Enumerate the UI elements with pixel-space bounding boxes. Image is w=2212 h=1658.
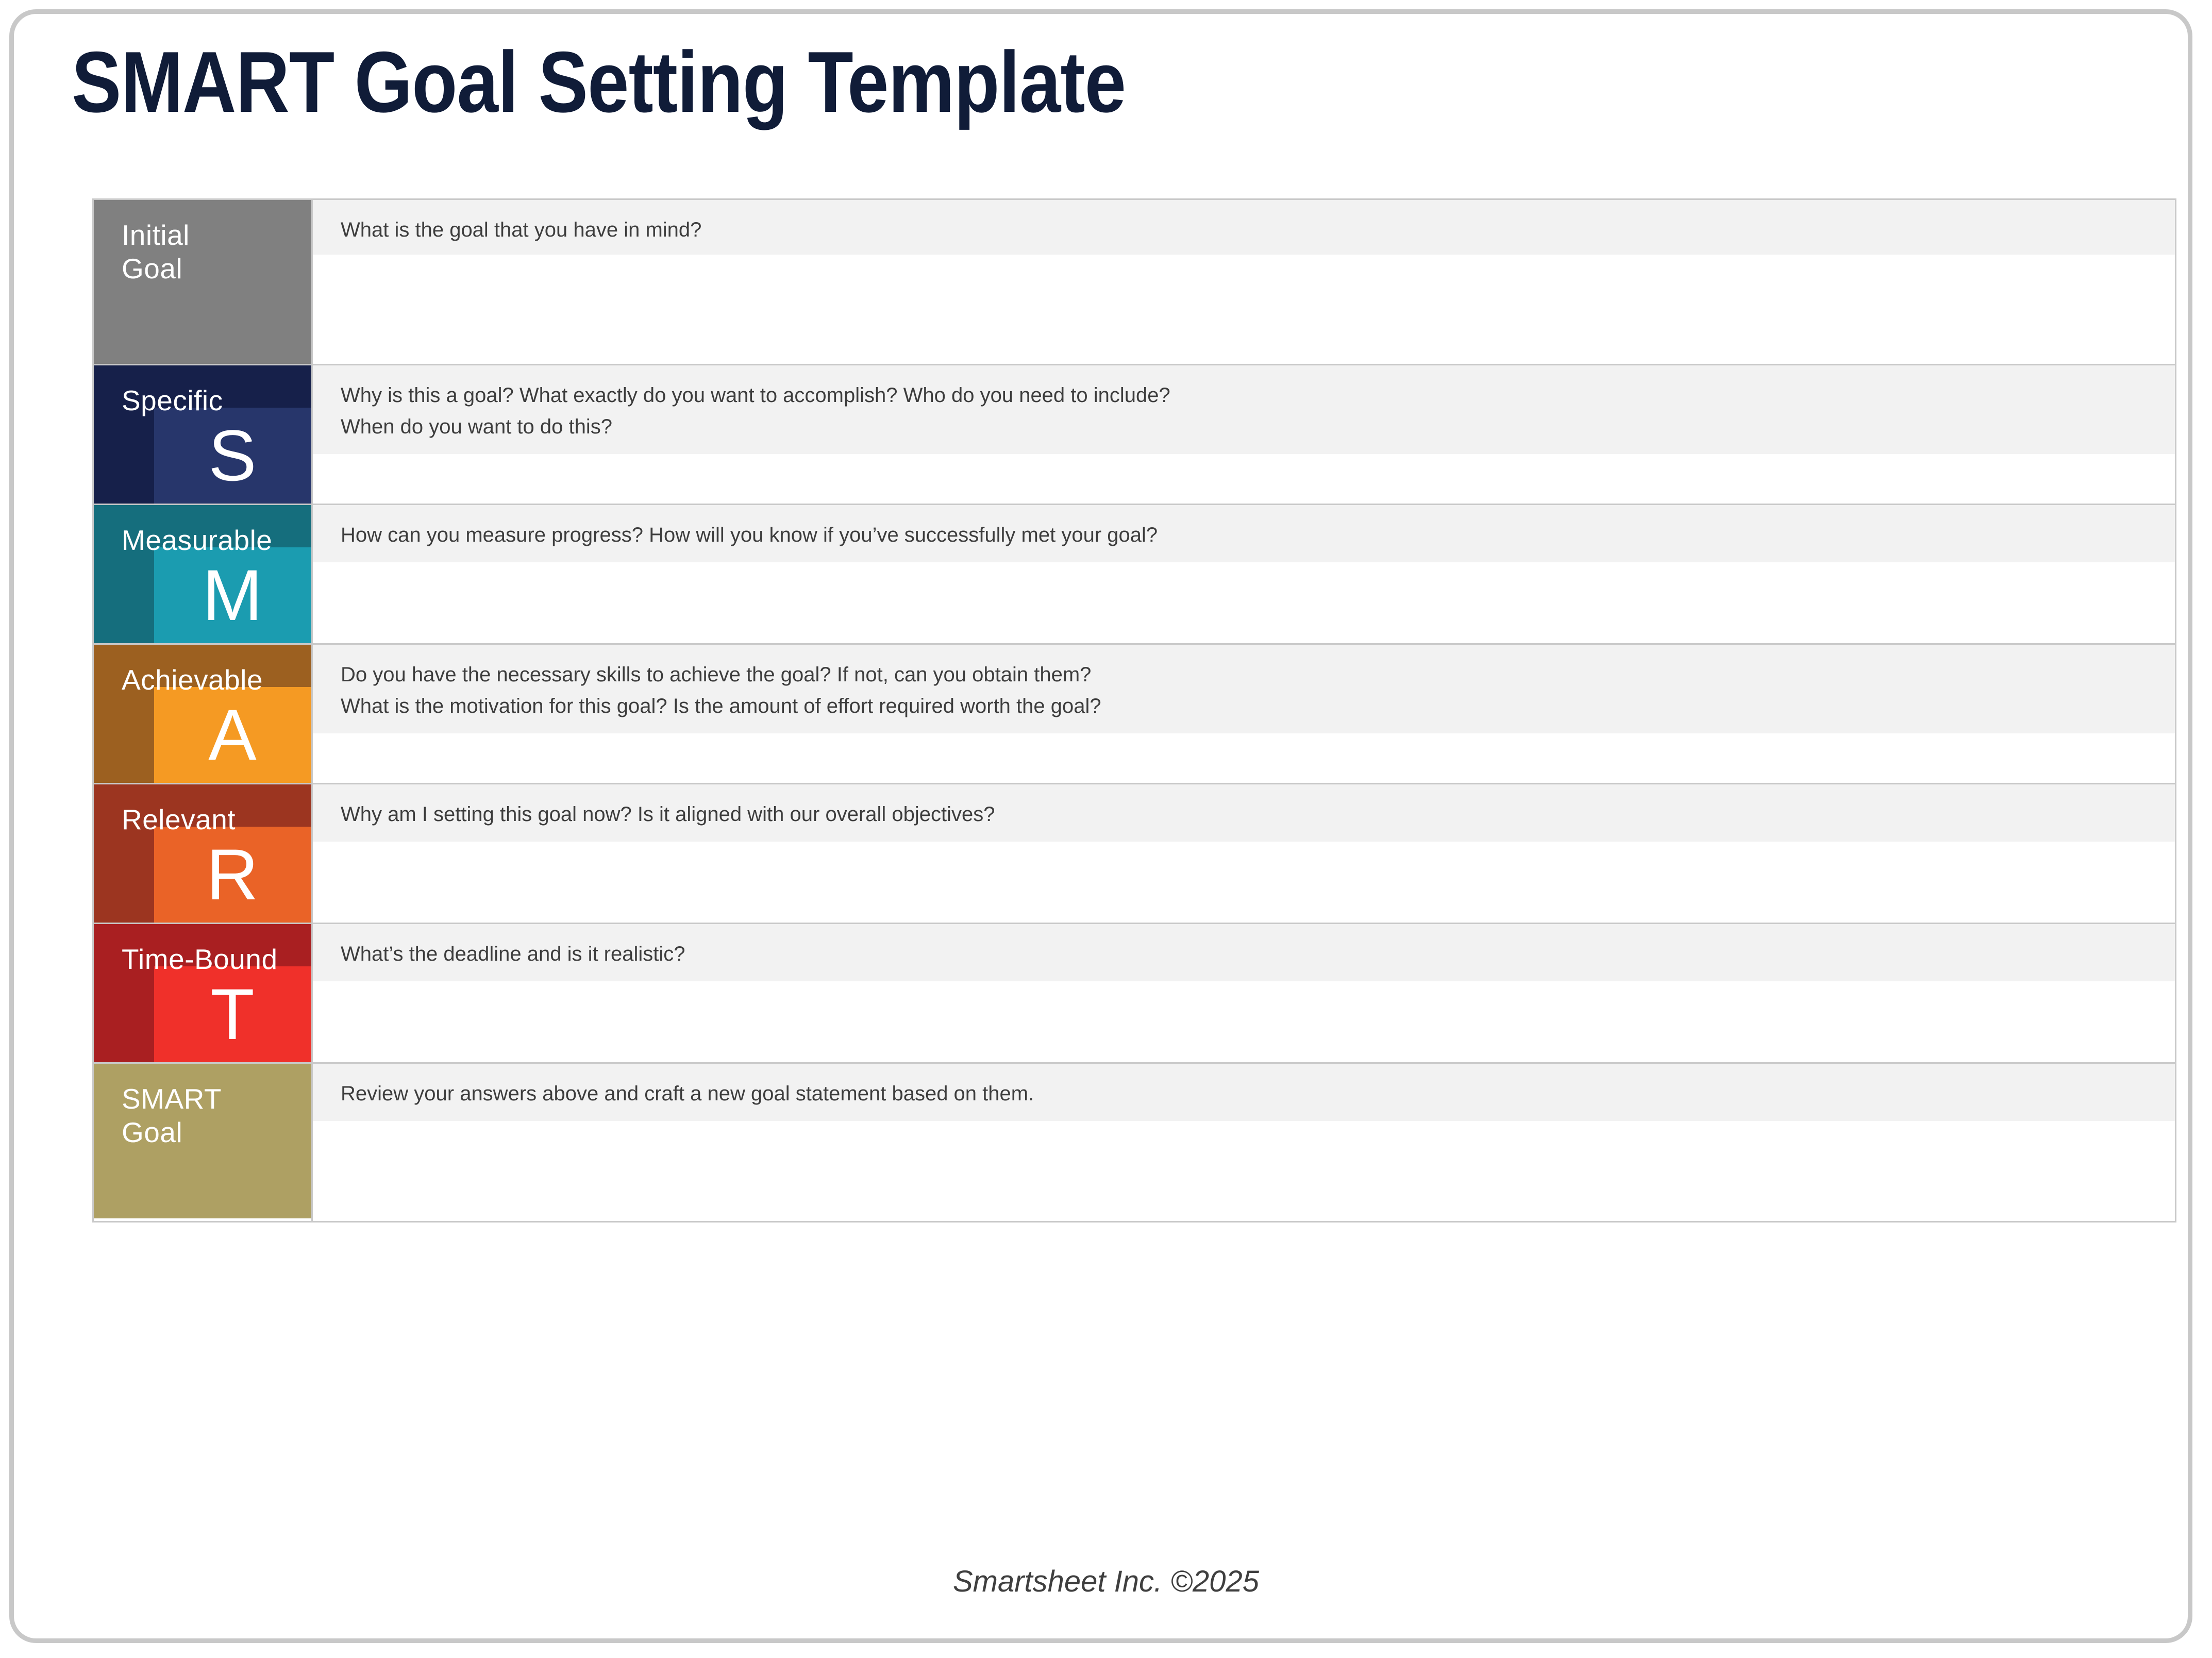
prompt-time-bound: What’s the deadline and is it realistic? (313, 924, 2175, 981)
table-row-achievable: Achievable A Do you have the necessary s… (94, 645, 2175, 784)
row-label-time-bound: Time-Bound (122, 943, 278, 976)
row-label-relevant: Relevant (122, 803, 236, 836)
table-row-time-bound: Time-Bound T What’s the deadline and is … (94, 924, 2175, 1064)
letter-glyph-s: S (208, 420, 257, 492)
label-cell-achievable: Achievable A (94, 645, 311, 783)
page-title: SMART Goal Setting Template (72, 39, 1126, 125)
smart-goal-table: Initial Goal What is the goal that you h… (92, 198, 2176, 1222)
letter-badge-a: A (154, 687, 311, 783)
letter-glyph-r: R (206, 839, 259, 911)
prompt-specific: Why is this a goal? What exactly do you … (313, 365, 2175, 454)
row-label-measurable: Measurable (122, 524, 272, 557)
content-cell-achievable: Do you have the necessary skills to achi… (311, 645, 2175, 783)
row-label-specific: Specific (122, 384, 223, 417)
table-row-specific: Specific S Why is this a goal? What exac… (94, 365, 2175, 505)
letter-badge-s: S (154, 408, 311, 504)
row-label-smart-goal: SMART Goal (122, 1082, 222, 1149)
letter-badge-m: M (154, 547, 311, 643)
table-row-smart-goal: SMART Goal Review your answers above and… (94, 1064, 2175, 1221)
table-row-measurable: Measurable M How can you measure progres… (94, 505, 2175, 645)
table-row-relevant: Relevant R Why am I setting this goal no… (94, 784, 2175, 924)
label-cell-relevant: Relevant R (94, 784, 311, 923)
content-cell-initial-goal: What is the goal that you have in mind? (311, 200, 2175, 364)
answer-area-specific[interactable] (313, 454, 2175, 504)
prompt-initial-goal: What is the goal that you have in mind? (313, 200, 2175, 255)
letter-glyph-t: T (210, 978, 255, 1050)
label-cell-specific: Specific S (94, 365, 311, 504)
content-cell-time-bound: What’s the deadline and is it realistic? (311, 924, 2175, 1062)
content-cell-specific: Why is this a goal? What exactly do you … (311, 365, 2175, 504)
label-cell-initial-goal: Initial Goal (94, 200, 311, 364)
letter-glyph-a: A (208, 699, 257, 771)
row-label-achievable: Achievable (122, 663, 263, 697)
content-cell-smart-goal: Review your answers above and craft a ne… (311, 1064, 2175, 1221)
prompt-achievable: Do you have the necessary skills to achi… (313, 645, 2175, 733)
prompt-smart-goal: Review your answers above and craft a ne… (313, 1064, 2175, 1121)
answer-area-time-bound[interactable] (313, 981, 2175, 1062)
row-label-initial-goal: Initial Goal (122, 219, 190, 286)
answer-area-relevant[interactable] (313, 842, 2175, 923)
table-row-initial-goal: Initial Goal What is the goal that you h… (94, 200, 2175, 365)
content-cell-relevant: Why am I setting this goal now? Is it al… (311, 784, 2175, 923)
prompt-relevant: Why am I setting this goal now? Is it al… (313, 784, 2175, 842)
letter-badge-r: R (154, 827, 311, 923)
content-cell-measurable: How can you measure progress? How will y… (311, 505, 2175, 643)
prompt-measurable: How can you measure progress? How will y… (313, 505, 2175, 562)
label-cell-smart-goal: SMART Goal (94, 1064, 311, 1218)
letter-glyph-m: M (203, 559, 263, 631)
label-cell-measurable: Measurable M (94, 505, 311, 643)
page-frame: SMART Goal Setting Template Initial Goal… (9, 9, 2192, 1643)
label-cell-time-bound: Time-Bound T (94, 924, 311, 1062)
answer-area-measurable[interactable] (313, 562, 2175, 643)
answer-area-achievable[interactable] (313, 733, 2175, 783)
answer-area-smart-goal[interactable] (313, 1121, 2175, 1221)
footer-copyright: Smartsheet Inc. ©2025 (0, 1564, 2212, 1599)
answer-area-initial-goal[interactable] (313, 255, 2175, 364)
letter-badge-t: T (154, 966, 311, 1062)
